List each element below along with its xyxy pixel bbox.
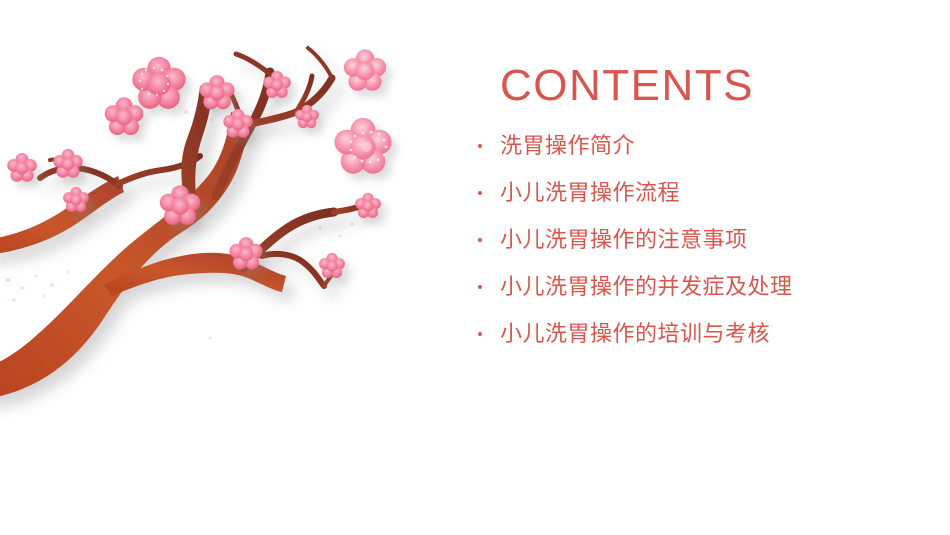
petal-speckles [6, 95, 353, 339]
toc-item-2[interactable]: 小儿洗胃操作流程 [478, 169, 933, 216]
contents-panel: CONTENTS 洗胃操作简介 小儿洗胃操作流程 小儿洗胃操作的注意事项 小儿洗… [478, 58, 933, 357]
table-of-contents-list: 洗胃操作简介 小儿洗胃操作流程 小儿洗胃操作的注意事项 小儿洗胃操作的并发症及处… [478, 122, 933, 357]
toc-item-label: 小儿洗胃操作的培训与考核 [500, 319, 770, 349]
toc-item-4[interactable]: 小儿洗胃操作的并发症及处理 [478, 263, 933, 310]
bullet-icon [478, 144, 500, 148]
toc-item-5[interactable]: 小儿洗胃操作的培训与考核 [478, 310, 933, 357]
floating-blossoms [139, 49, 392, 173]
toc-item-label: 洗胃操作简介 [500, 131, 635, 161]
toc-item-1[interactable]: 洗胃操作简介 [478, 122, 933, 169]
bullet-icon [478, 238, 500, 242]
page-title: CONTENTS [500, 58, 933, 114]
bullet-icon [478, 332, 500, 336]
contents-slide: CONTENTS 洗胃操作简介 小儿洗胃操作流程 小儿洗胃操作的注意事项 小儿洗… [0, 0, 950, 535]
bullet-icon [478, 191, 500, 195]
toc-item-label: 小儿洗胃操作流程 [500, 178, 680, 208]
bullet-icon [478, 285, 500, 289]
plum-blossom-branch-illustration [0, 0, 450, 440]
toc-item-3[interactable]: 小儿洗胃操作的注意事项 [478, 216, 933, 263]
toc-item-label: 小儿洗胃操作的注意事项 [500, 225, 748, 255]
toc-item-label: 小儿洗胃操作的并发症及处理 [500, 272, 793, 302]
